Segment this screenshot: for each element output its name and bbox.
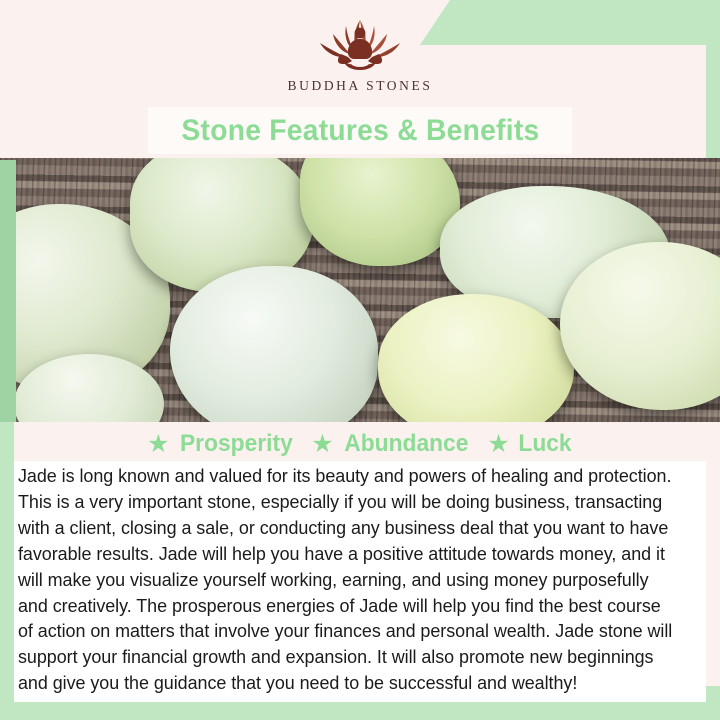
benefit-label: Abundance — [344, 430, 468, 458]
star-icon: ★ — [487, 432, 509, 457]
brand-logo: BUDDHA STONES — [0, 14, 720, 106]
benefit-label: Prosperity — [180, 430, 293, 458]
decor-green-left-strip-bottom — [0, 422, 14, 702]
description-card: Jade is long known and valued for its be… — [14, 461, 706, 702]
page-title: Stone Features & Benefits — [181, 114, 539, 148]
brand-name: BUDDHA STONES — [288, 78, 433, 94]
decor-green-left-strip-top — [0, 160, 16, 422]
jade-stone — [170, 266, 378, 422]
description-text: Jade is long known and valued for its be… — [18, 463, 676, 696]
title-banner: Stone Features & Benefits — [148, 107, 572, 154]
benefit-item-prosperity: ★ Prosperity — [147, 430, 295, 458]
star-icon: ★ — [147, 432, 169, 457]
benefit-item-abundance: ★ Abundance — [311, 430, 471, 458]
benefits-row: ★ Prosperity ★ Abundance ★ Luck — [0, 430, 720, 458]
benefit-label: Luck — [518, 430, 571, 458]
lotus-meditating-buddha-icon — [306, 14, 414, 76]
benefit-item-luck: ★ Luck — [487, 430, 572, 458]
star-icon: ★ — [311, 432, 333, 457]
product-photo: Jade — [0, 158, 720, 422]
